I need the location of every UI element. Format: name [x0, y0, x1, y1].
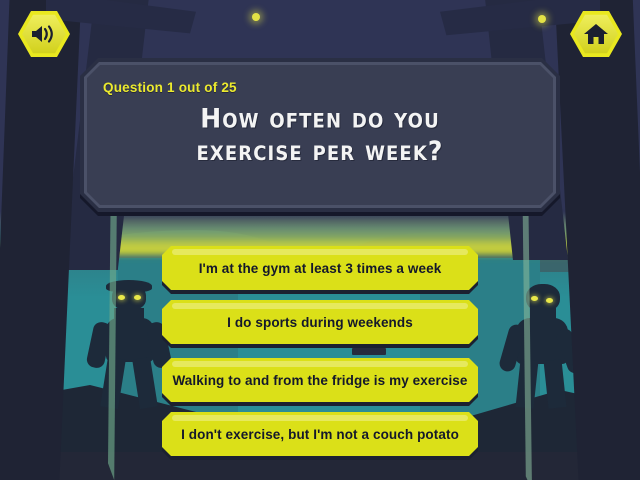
- firefly: [538, 15, 546, 23]
- answer-1-label: I'm at the gym at least 3 times a week: [199, 261, 442, 276]
- zombie-left-silhouette: [88, 278, 174, 408]
- question-panel-border: Question 1 out of 25 How often do you ex…: [84, 62, 556, 208]
- quiz-screen: Question 1 out of 25 How often do you ex…: [0, 0, 640, 480]
- home-button[interactable]: [570, 10, 622, 58]
- question-text: How often do you exercise per week?: [87, 103, 553, 167]
- answer-3-label: Walking to and from the fridge is my exe…: [172, 373, 467, 388]
- question-panel-inner: Question 1 out of 25 How often do you ex…: [87, 65, 553, 205]
- question-panel: Question 1 out of 25 How often do you ex…: [80, 58, 560, 212]
- answer-option-4[interactable]: I don't exercise, but I'm not a couch po…: [162, 412, 478, 456]
- question-line-2: exercise per week?: [87, 135, 553, 167]
- speaker-volume-icon: [18, 10, 70, 58]
- home-icon: [570, 10, 622, 58]
- sound-button[interactable]: [18, 10, 70, 58]
- answer-option-2[interactable]: I do sports during weekends: [162, 300, 478, 344]
- question-counter: Question 1 out of 25: [103, 80, 237, 95]
- firefly: [252, 13, 260, 21]
- answer-4-label: I don't exercise, but I'm not a couch po…: [181, 427, 459, 442]
- zombie-eye: [118, 295, 125, 300]
- answer-slot-marker: [352, 348, 386, 355]
- zombie-eye: [134, 295, 141, 300]
- answer-2-label: I do sports during weekends: [227, 315, 413, 330]
- zombie-eye: [546, 298, 553, 303]
- zombie-eye: [531, 296, 538, 301]
- answer-option-3[interactable]: Walking to and from the fridge is my exe…: [162, 358, 478, 402]
- answer-option-1[interactable]: I'm at the gym at least 3 times a week: [162, 246, 478, 290]
- question-line-1: How often do you: [87, 103, 553, 135]
